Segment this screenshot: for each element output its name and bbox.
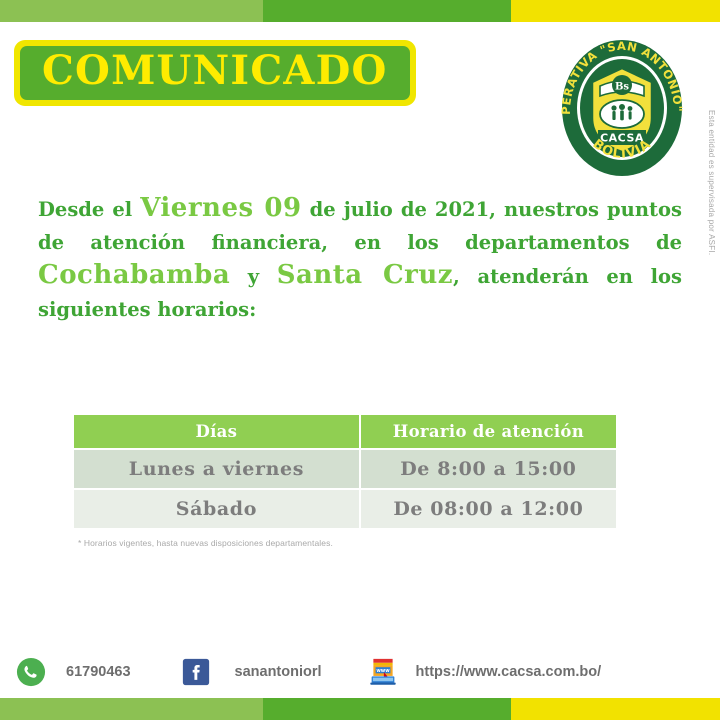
comunicado-title: COMUNICADO (42, 50, 388, 92)
schedule-footnote: * Horarios vigentes, hasta nuevas dispos… (78, 538, 333, 548)
highlight-date: Viernes 09 (140, 193, 301, 223)
whatsapp-icon (14, 655, 48, 689)
highlight-city-santacruz: Santa Cruz (277, 260, 453, 290)
website-icon: www (366, 655, 400, 689)
asfi-supervision-note: Esta entidad es supervisada por ASFI. (707, 110, 716, 330)
comunicado-banner: COMUNICADO (14, 40, 416, 106)
bottom-decorative-bar (0, 698, 720, 720)
svg-text:www: www (376, 669, 390, 674)
logo-currency-label: Bs (615, 82, 629, 93)
bar-segment-green (263, 0, 511, 22)
contact-whatsapp[interactable]: 61790463 (14, 655, 131, 689)
schedule-day-weekdays: Lunes a viernes (74, 450, 359, 488)
contact-whatsapp-label: 61790463 (66, 664, 131, 680)
comunicado-poster: COMUNICADO Bs (0, 0, 720, 720)
paragraph-conjunction: y (230, 265, 277, 288)
schedule-header-row: Días Horario de atención (74, 415, 616, 448)
bar-segment-light-green (0, 0, 263, 22)
contact-facebook-label: sanantoniorl (235, 664, 322, 680)
highlight-city-cochabamba: Cochabamba (38, 260, 230, 290)
schedule-hours-saturday: De 08:00 a 12:00 (361, 490, 616, 528)
schedule-day-saturday: Sábado (74, 490, 359, 528)
contact-website[interactable]: www https://www.cacsa.com.bo/ (366, 655, 602, 689)
bar-segment-light-green (0, 698, 263, 720)
bar-segment-yellow (511, 0, 720, 22)
schedule-table: Días Horario de atención Lunes a viernes… (72, 413, 618, 530)
table-row: Lunes a viernes De 8:00 a 15:00 (74, 450, 616, 488)
bar-segment-yellow (511, 698, 720, 720)
table-row: Sábado De 08:00 a 12:00 (74, 490, 616, 528)
cacsa-logo: Bs CACSA COOPERATIVA "SAN ANTONIO" R.L. … (556, 38, 688, 178)
schedule-header-days: Días (74, 415, 359, 448)
comunicado-banner-inner: COMUNICADO (20, 46, 410, 100)
paragraph-lead: Desde el (38, 198, 140, 221)
schedule-header-hours: Horario de atención (361, 415, 616, 448)
top-decorative-bar (0, 0, 720, 22)
bar-segment-green (263, 698, 511, 720)
contact-facebook[interactable]: sanantoniorl (179, 655, 322, 689)
announcement-paragraph: Desde el Viernes 09 de julio de 2021, nu… (38, 192, 682, 326)
schedule-hours-weekdays: De 8:00 a 15:00 (361, 450, 616, 488)
contact-footer: 61790463 sanantoniorl www (0, 650, 720, 694)
contact-website-label: https://www.cacsa.com.bo/ (416, 664, 602, 680)
facebook-icon (179, 655, 213, 689)
